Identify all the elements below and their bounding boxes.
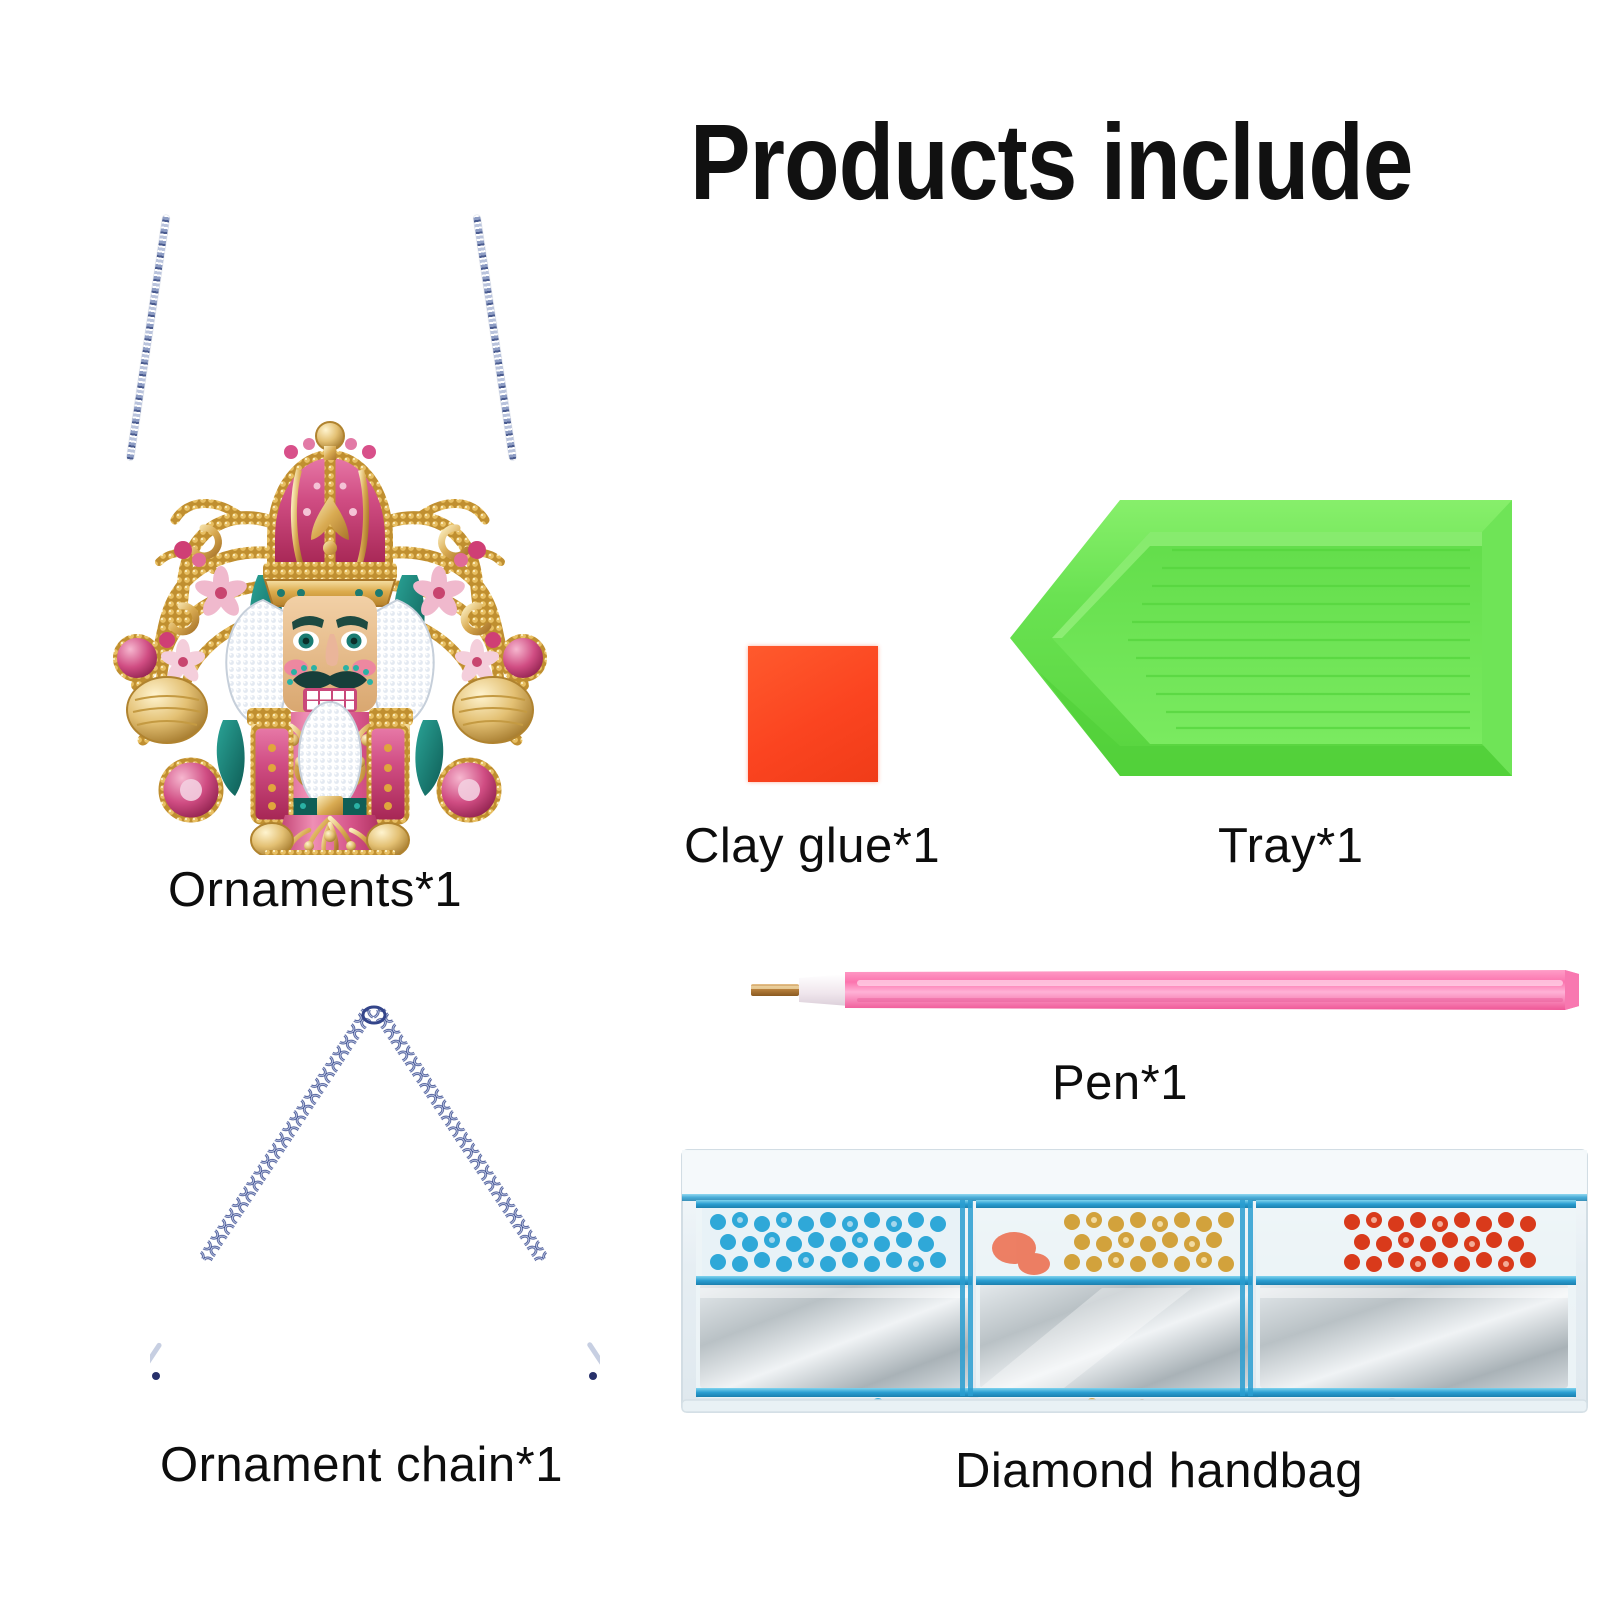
- diamond-handbag-label: Diamond handbag: [955, 1443, 1363, 1499]
- pen-label: Pen*1: [1052, 1055, 1188, 1111]
- product-contents-infographic: Products include: [0, 0, 1600, 1600]
- clay-glue-icon: [748, 646, 878, 782]
- page-title: Products include: [690, 105, 1446, 218]
- ornament-chain-label: Ornament chain*1: [160, 1437, 563, 1493]
- clay-glue-label: Clay glue*1: [684, 818, 940, 874]
- diamond-handbag-icon: [672, 1138, 1597, 1423]
- tray-label: Tray*1: [1218, 818, 1364, 874]
- nutcracker-ornament-icon: [95, 400, 565, 855]
- chain-icon: [150, 995, 600, 1395]
- ornaments-label: Ornaments*1: [168, 862, 462, 918]
- pen-icon: [745, 960, 1585, 1018]
- tray-icon: [1000, 488, 1530, 788]
- ornaments-item: [95, 215, 565, 855]
